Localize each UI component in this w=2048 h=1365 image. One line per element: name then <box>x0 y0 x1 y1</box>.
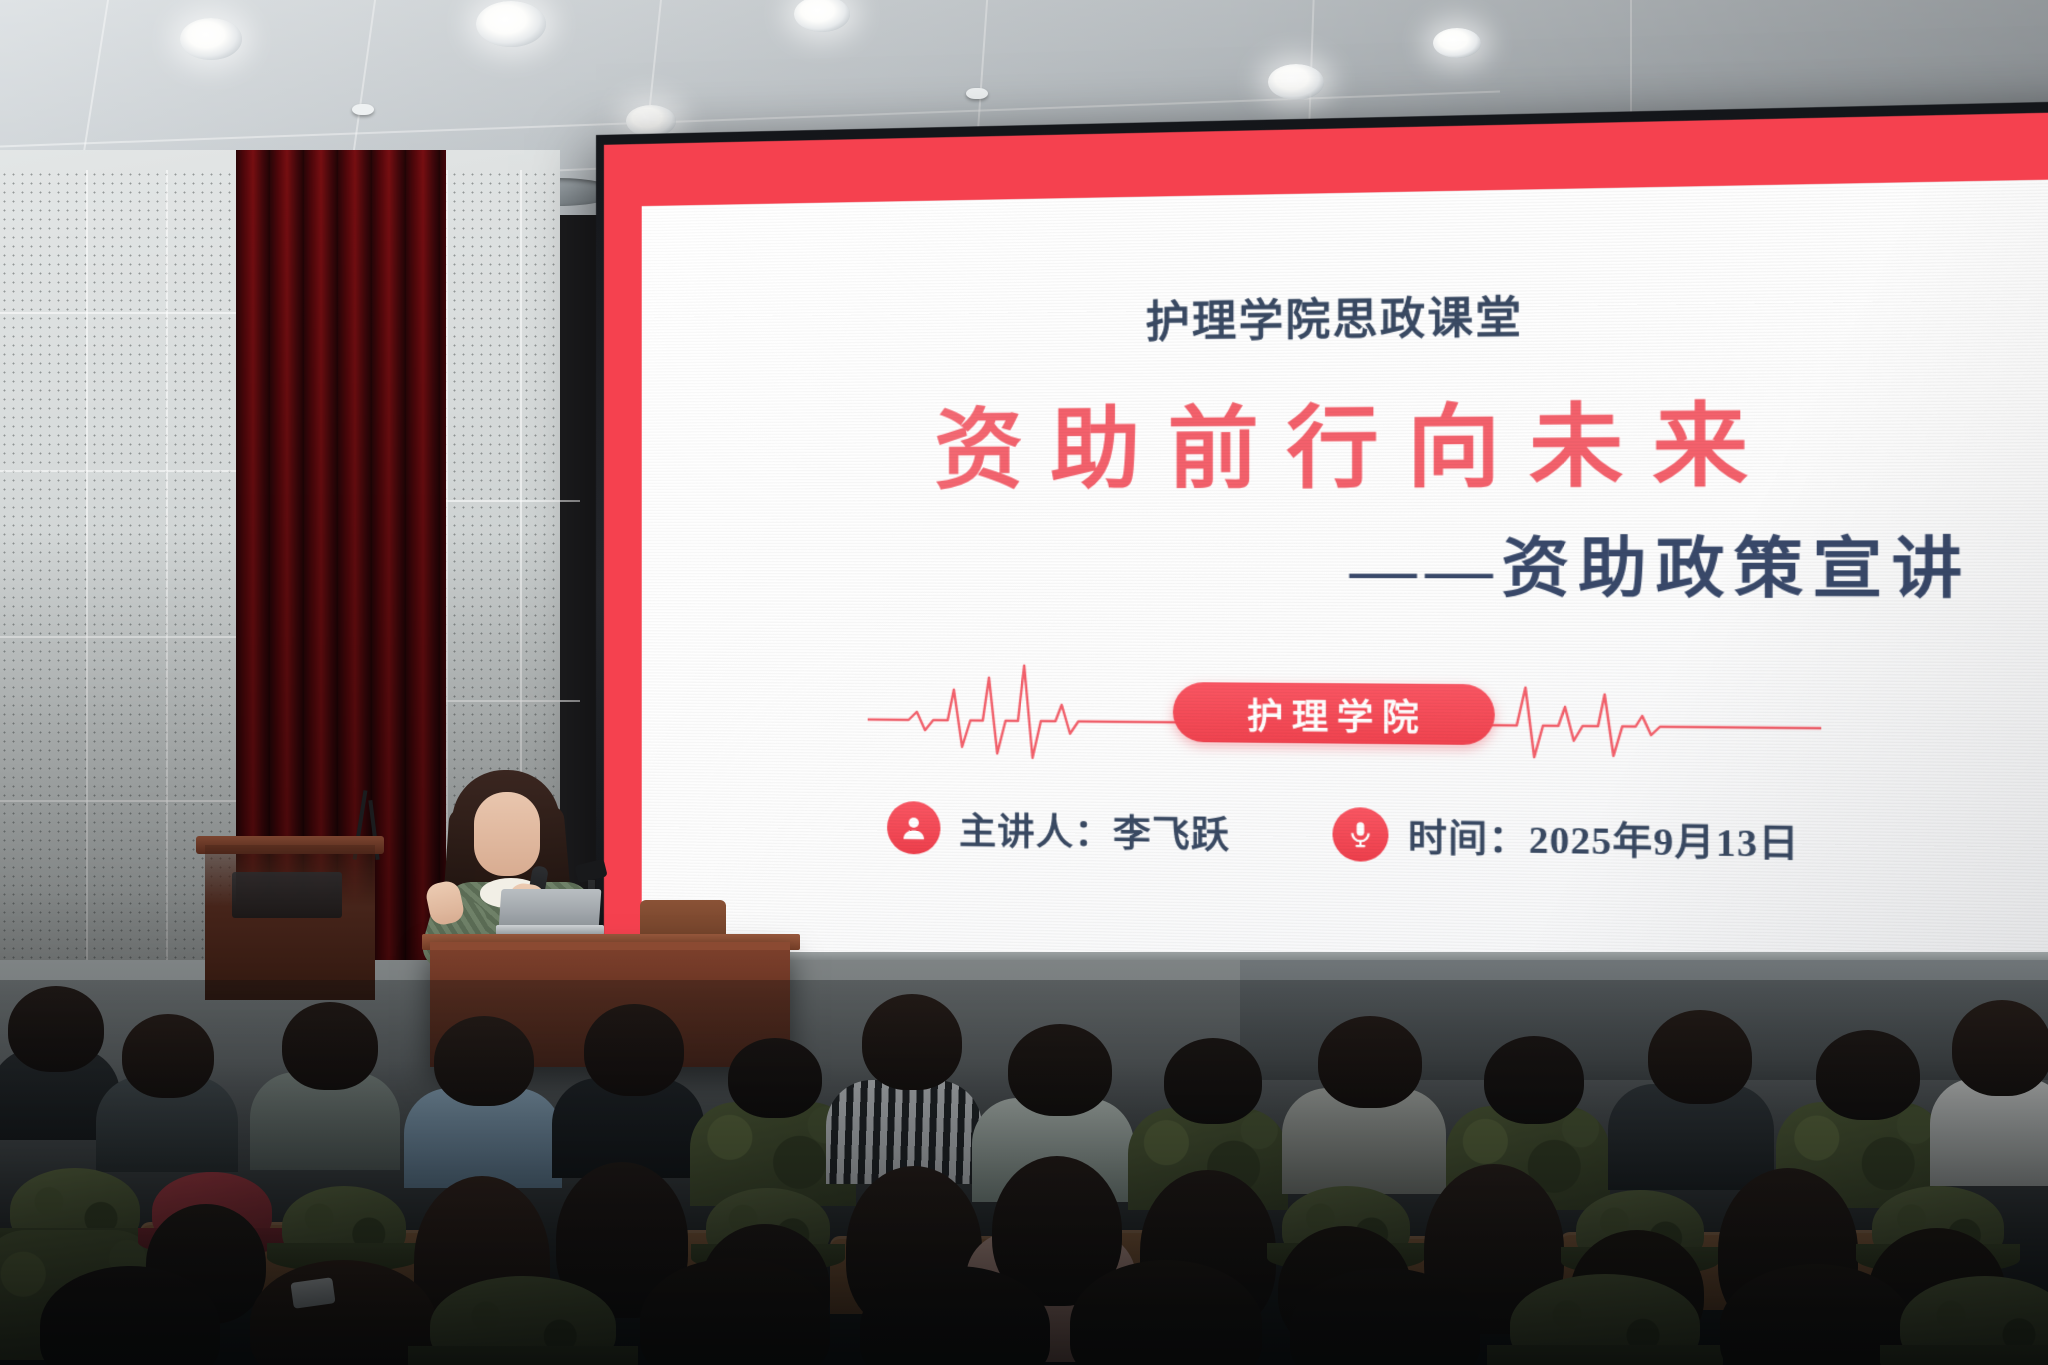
camouflage-cap <box>1510 1274 1700 1365</box>
screen-red-frame: 护理学院思政课堂 资助前行向未来 ——资助政策宣讲 护理学院 <box>604 111 2048 989</box>
ecg-badge-row: 护理学院 <box>642 652 2048 779</box>
slide-eyebrow: 护理学院思政课堂 <box>642 274 2048 355</box>
audience-head <box>434 1016 534 1106</box>
lectern-control-panel <box>232 872 342 918</box>
slide-canvas: 护理学院思政课堂 资助前行向未来 ——资助政策宣讲 护理学院 <box>642 179 2048 988</box>
audience-head <box>8 986 104 1072</box>
audience-head <box>728 1038 822 1118</box>
audience-head <box>584 1004 684 1096</box>
laptop-screen <box>499 889 602 929</box>
ceiling-downlight <box>626 105 676 137</box>
screenshot-root: 护理学院思政课堂 资助前行向未来 ——资助政策宣讲 护理学院 <box>0 0 2048 1365</box>
slide-main-title: 资助前行向未来 <box>642 368 2048 507</box>
presenter-meta: 主讲人：李飞跃 <box>887 801 1230 859</box>
slide-meta-row: 主讲人：李飞跃 <box>642 798 2048 874</box>
smoke-detector-icon <box>352 104 374 115</box>
heartbeat-line-left-icon <box>868 659 1180 764</box>
audience-head <box>1318 1016 1422 1108</box>
college-badge-label: 护理学院 <box>1239 687 1428 740</box>
audience-head <box>1648 1010 1752 1104</box>
audience-head <box>1816 1030 1920 1120</box>
audience-head <box>1164 1038 1262 1124</box>
slide-sub-title: ——资助政策宣讲 <box>1350 515 1972 612</box>
presentation-slide: 护理学院思政课堂 资助前行向未来 ——资助政策宣讲 护理学院 <box>642 179 2048 988</box>
ceiling-downlight <box>180 18 242 60</box>
audience-head <box>1952 1000 2048 1096</box>
audience-head <box>122 1014 214 1098</box>
presenter-label: 主讲人：李飞跃 <box>959 802 1230 859</box>
audience-head <box>282 1002 378 1090</box>
audience-head <box>1008 1024 1112 1116</box>
ceiling-downlight <box>1268 64 1324 100</box>
ceiling-downlight <box>1433 28 1481 58</box>
time-meta: 时间：2025年9月13日 <box>1332 807 1799 869</box>
presenter-face <box>474 792 540 876</box>
camouflage-cap <box>430 1276 616 1365</box>
led-screen: 护理学院思政课堂 资助前行向未来 ——资助政策宣讲 护理学院 <box>596 135 2026 965</box>
smoke-detector-icon <box>966 88 988 99</box>
ceiling-downlight <box>476 1 546 47</box>
lectern <box>205 845 375 1000</box>
heartbeat-line-right-icon <box>1488 662 1821 771</box>
person-icon <box>887 801 940 855</box>
audience-head <box>862 994 962 1090</box>
microphone-icon <box>1332 807 1388 862</box>
audience <box>0 980 2048 1365</box>
time-label: 时间：2025年9月13日 <box>1408 808 1800 869</box>
college-badge: 护理学院 <box>1173 682 1495 745</box>
screen-bezel: 护理学院思政课堂 资助前行向未来 ——资助政策宣讲 护理学院 <box>596 100 2048 1000</box>
audience-head <box>1484 1036 1584 1124</box>
